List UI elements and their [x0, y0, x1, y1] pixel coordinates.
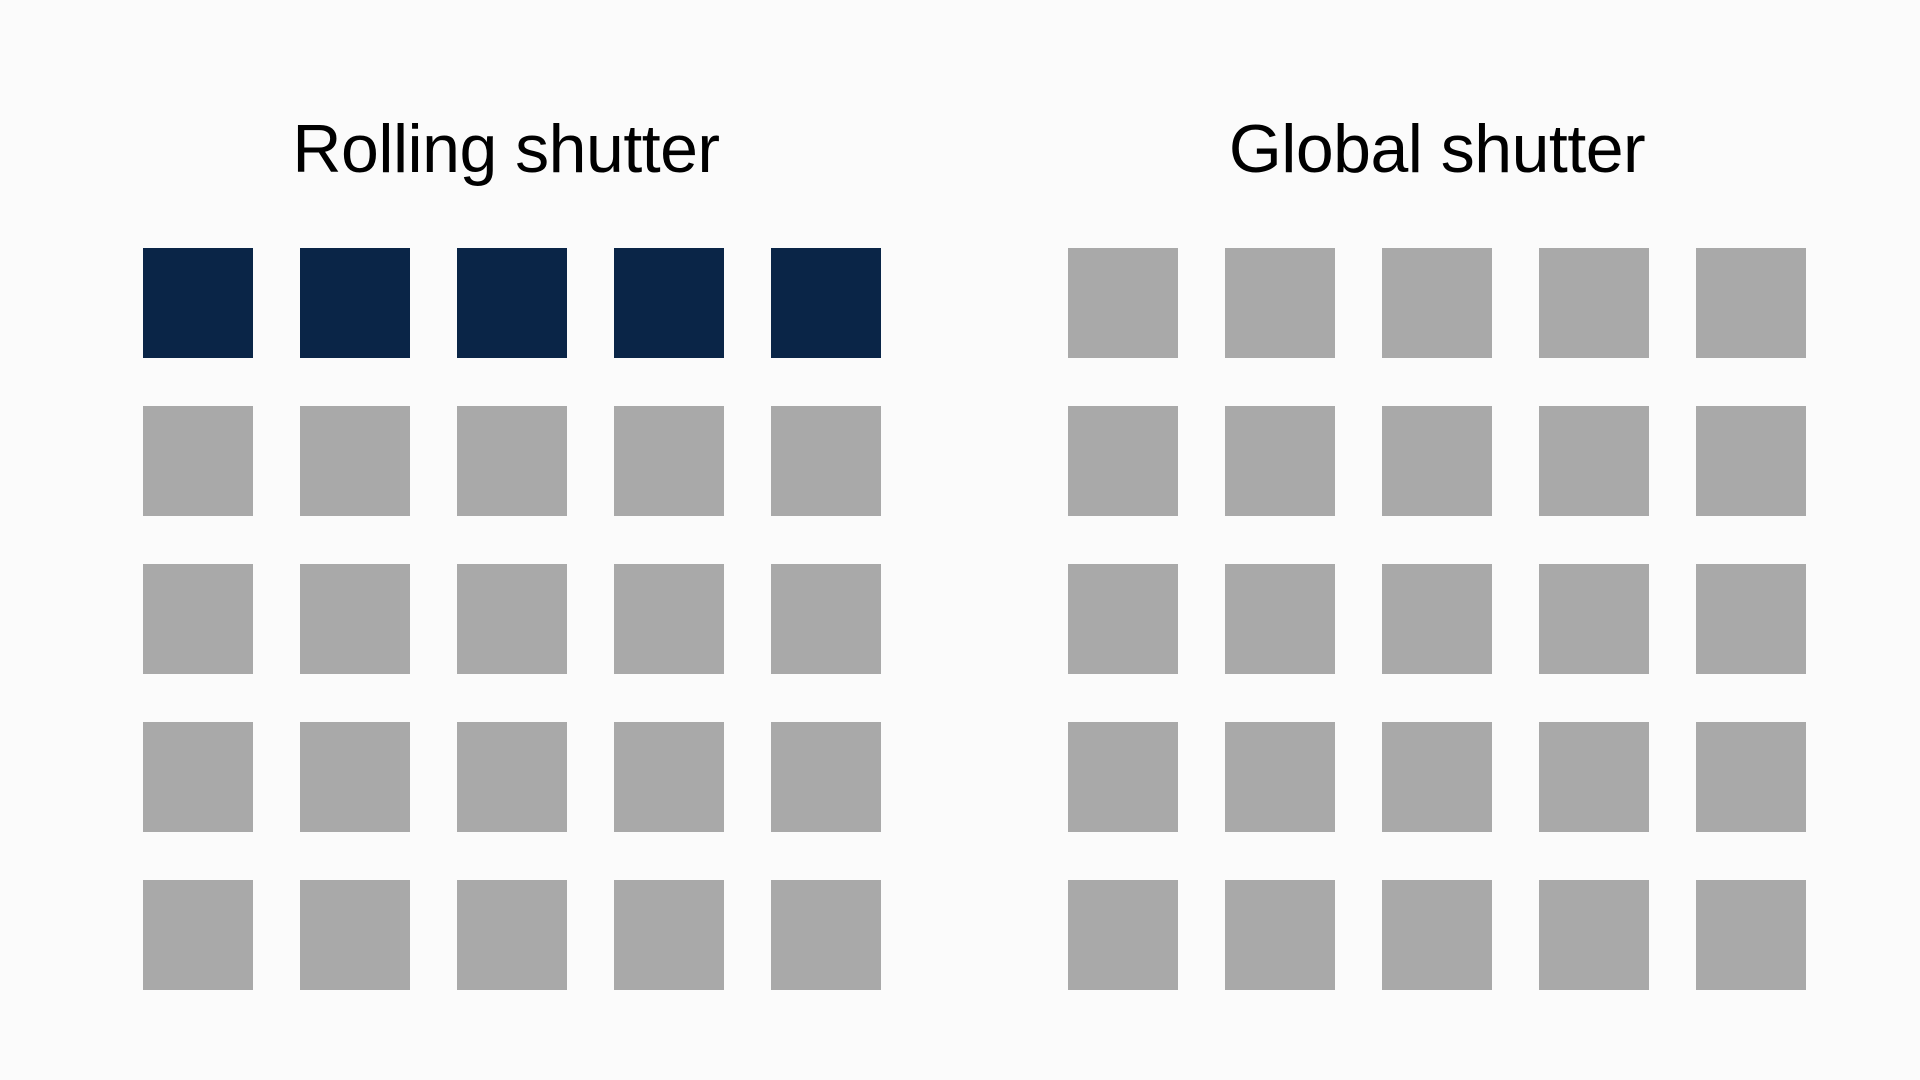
- pixel-cell: [1068, 564, 1178, 674]
- shutter-comparison-figure: Rolling shutter Global shutter: [0, 0, 1920, 1080]
- pixel-cell: [1696, 564, 1806, 674]
- pixel-cell: [1539, 722, 1649, 832]
- pixel-cell: [614, 248, 724, 358]
- pixel-cell: [1382, 722, 1492, 832]
- pixel-cell: [1539, 248, 1649, 358]
- pixel-cell: [457, 880, 567, 990]
- pixel-cell: [1225, 406, 1335, 516]
- pixel-cell: [300, 880, 410, 990]
- pixel-cell: [1539, 880, 1649, 990]
- pixel-cell: [771, 564, 881, 674]
- global-shutter-pixel-grid: [1068, 248, 1806, 990]
- pixel-cell: [300, 722, 410, 832]
- pixel-cell: [614, 564, 724, 674]
- pixel-cell: [143, 564, 253, 674]
- pixel-cell: [771, 248, 881, 358]
- pixel-cell: [771, 880, 881, 990]
- pixel-cell: [143, 880, 253, 990]
- pixel-cell: [1225, 722, 1335, 832]
- rolling-shutter-pixel-grid: [143, 248, 881, 990]
- pixel-cell: [1382, 248, 1492, 358]
- pixel-cell: [614, 722, 724, 832]
- pixel-cell: [1068, 406, 1178, 516]
- pixel-cell: [1068, 880, 1178, 990]
- pixel-cell: [457, 248, 567, 358]
- pixel-cell: [457, 406, 567, 516]
- pixel-cell: [1696, 722, 1806, 832]
- pixel-cell: [771, 722, 881, 832]
- pixel-cell: [143, 248, 253, 358]
- pixel-cell: [300, 248, 410, 358]
- pixel-cell: [1539, 406, 1649, 516]
- pixel-cell: [614, 880, 724, 990]
- pixel-cell: [1539, 564, 1649, 674]
- pixel-cell: [1382, 880, 1492, 990]
- pixel-cell: [1696, 880, 1806, 990]
- pixel-cell: [1225, 880, 1335, 990]
- pixel-cell: [1696, 248, 1806, 358]
- pixel-cell: [1382, 564, 1492, 674]
- pixel-cell: [457, 564, 567, 674]
- pixel-cell: [1225, 564, 1335, 674]
- pixel-cell: [143, 406, 253, 516]
- pixel-cell: [614, 406, 724, 516]
- pixel-cell: [143, 722, 253, 832]
- pixel-cell: [300, 564, 410, 674]
- pixel-cell: [457, 722, 567, 832]
- pixel-cell: [300, 406, 410, 516]
- pixel-cell: [771, 406, 881, 516]
- global-shutter-title: Global shutter: [1068, 114, 1806, 185]
- pixel-cell: [1382, 406, 1492, 516]
- pixel-cell: [1225, 248, 1335, 358]
- pixel-cell: [1068, 722, 1178, 832]
- pixel-cell: [1068, 248, 1178, 358]
- rolling-shutter-title: Rolling shutter: [137, 114, 875, 185]
- pixel-cell: [1696, 406, 1806, 516]
